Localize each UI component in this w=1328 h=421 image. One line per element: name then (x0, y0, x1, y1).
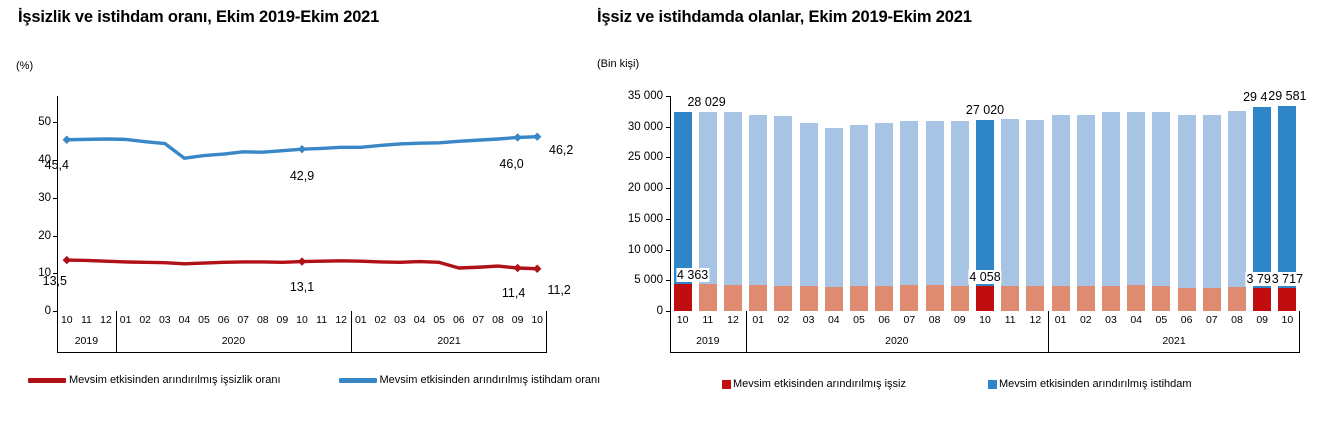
y-axis-tick-label: 0 (29, 305, 51, 317)
x-axis-month: 01 (355, 314, 367, 326)
x-axis-month: 03 (803, 314, 815, 326)
x-axis-month: 09 (512, 314, 524, 326)
x-axis-month: 09 (954, 314, 966, 326)
legend-item[interactable]: Mevsim etkisinden arındırılmış istihdam … (339, 374, 601, 386)
bar-segment-unemployed (1203, 288, 1221, 311)
bar-segment-employed (850, 125, 868, 286)
bar-value-label: 29 581 (1267, 89, 1307, 103)
line-data-point-label: 46,0 (499, 157, 523, 171)
x-axis-month: 07 (237, 314, 249, 326)
bar-column[interactable] (1001, 119, 1019, 311)
bar-segment-employed (1026, 120, 1044, 286)
x-axis-month: 07 (904, 314, 916, 326)
bar-column[interactable] (900, 121, 918, 311)
x-axis-month: 10 (296, 314, 308, 326)
x-axis-year: 2020 (222, 335, 245, 347)
line-data-point-marker (298, 257, 306, 265)
y-axis-tick-label: 50 (29, 116, 51, 128)
x-axis-month: 12 (1030, 314, 1042, 326)
x-axis-month: 03 (159, 314, 171, 326)
bar-column[interactable] (1178, 115, 1196, 311)
y-axis-tick-mark (666, 219, 671, 220)
bar-chart-x-axis: 1011120102030405060708091011120102030405… (670, 311, 1300, 353)
x-axis-month: 10 (531, 314, 543, 326)
x-axis-group-separator (1048, 311, 1049, 353)
bar-segment-employed (749, 115, 767, 285)
legend-square-swatch (988, 380, 997, 389)
legend-line-swatch (28, 378, 66, 383)
bar-column[interactable] (724, 112, 742, 311)
x-axis-month: 10 (1282, 314, 1294, 326)
x-axis-month: 01 (120, 314, 132, 326)
x-axis-month: 03 (1105, 314, 1117, 326)
bar-segment-unemployed (699, 284, 717, 311)
bar-column[interactable] (875, 122, 893, 311)
bar-segment-employed (1077, 115, 1095, 286)
x-axis-month: 10 (677, 314, 689, 326)
line-chart-x-axis: 1011120102030405060708091011120102030405… (57, 311, 547, 353)
line-chart-panel: İşsizlik ve istihdam oranı, Ekim 2019-Ek… (0, 0, 592, 421)
x-axis-month: 04 (828, 314, 840, 326)
x-axis-month: 06 (878, 314, 890, 326)
bar-column[interactable] (850, 125, 868, 311)
bar-chart-legend: Mevsim etkisinden arındırılmış işsizMevs… (722, 378, 1192, 390)
x-axis-month: 09 (1256, 314, 1268, 326)
x-axis-month: 06 (453, 314, 465, 326)
x-axis-month: 08 (257, 314, 269, 326)
x-axis-month: 02 (375, 314, 387, 326)
y-axis-tick-mark (666, 127, 671, 128)
bar-segment-employed (800, 123, 818, 286)
x-axis-border (57, 352, 547, 353)
bar-column[interactable] (1152, 112, 1170, 311)
bar-segment-employed (926, 121, 944, 286)
bar-chart-plot-area: 05 00010 00015 00020 00025 00030 00035 0… (670, 96, 1300, 311)
bar-segment-employed (1001, 119, 1019, 286)
bar-segment-employed (1152, 112, 1170, 286)
x-axis-month: 03 (394, 314, 406, 326)
legend-label: Mevsim etkisinden arındırılmış istihdam … (380, 374, 601, 386)
bar-segment-employed (951, 121, 969, 286)
bar-column[interactable] (825, 128, 843, 311)
bar-segment-unemployed (926, 285, 944, 311)
x-axis-month: 11 (81, 314, 92, 326)
y-axis-tick-mark (666, 96, 671, 97)
x-axis-year: 2020 (885, 335, 908, 347)
bar-column[interactable] (749, 115, 767, 311)
y-axis-tick-mark (666, 250, 671, 251)
bar-column[interactable] (951, 121, 969, 311)
bar-value-label: 28 029 (686, 95, 726, 109)
y-axis-tick-mark (666, 188, 671, 189)
bar-segment-unemployed (674, 284, 692, 311)
bar-segment-unemployed (976, 286, 994, 311)
x-axis-month: 01 (1055, 314, 1067, 326)
bar-segment-unemployed (1102, 286, 1120, 311)
bar-column[interactable] (1127, 112, 1145, 311)
y-axis-tick-label: 5 000 (619, 274, 663, 286)
bar-segment-unemployed (1127, 285, 1145, 311)
x-axis-month: 12 (727, 314, 739, 326)
x-axis-month: 04 (1130, 314, 1142, 326)
line-data-point-label: 13,1 (290, 280, 314, 294)
bar-column[interactable] (774, 116, 792, 311)
x-axis-group-separator (746, 311, 747, 353)
bar-segment-employed (1203, 115, 1221, 288)
bar-segment-unemployed (749, 285, 767, 311)
bar-segment-employed (1228, 111, 1246, 287)
bar-value-label: 4 363 (676, 268, 709, 282)
y-axis-tick-label: 30 000 (619, 121, 663, 133)
bar-segment-unemployed (1178, 288, 1196, 311)
bar-column[interactable] (1228, 111, 1246, 311)
x-axis-month: 02 (139, 314, 151, 326)
line-data-point-label: 42,9 (290, 169, 314, 183)
bar-segment-employed (724, 112, 742, 285)
bar-segment-employed (674, 112, 692, 284)
x-axis-year: 2021 (1162, 335, 1185, 347)
bar-segment-employed (1102, 112, 1120, 286)
x-axis-group-separator (351, 311, 352, 353)
bar-segment-employed (976, 120, 994, 286)
bar-segment-unemployed (1278, 288, 1296, 311)
x-axis-month: 05 (198, 314, 210, 326)
x-axis-month: 11 (702, 314, 713, 326)
line-data-point-label: 11,2 (547, 283, 570, 297)
y-axis-tick-label: 20 000 (619, 182, 663, 194)
legend-label: Mevsim etkisinden arındırılmış işsiz (733, 378, 906, 390)
x-axis-border (1299, 311, 1300, 353)
bar-value-label: 3 717 (1271, 272, 1304, 286)
legend-label: Mevsim etkisinden arındırılmış işsizlik … (69, 374, 281, 386)
x-axis-border (670, 352, 1300, 353)
x-axis-month: 12 (100, 314, 112, 326)
bar-segment-employed (774, 116, 792, 285)
x-axis-month: 09 (277, 314, 289, 326)
line-chart-y-unit: (%) (16, 60, 33, 72)
x-axis-month: 04 (179, 314, 191, 326)
bar-segment-unemployed (724, 285, 742, 311)
x-axis-month: 12 (335, 314, 347, 326)
legend-item[interactable]: Mevsim etkisinden arındırılmış işsiz (722, 378, 906, 390)
legend-line-swatch (339, 378, 377, 383)
x-axis-month: 05 (433, 314, 445, 326)
bar-segment-employed (699, 112, 717, 284)
x-axis-month: 06 (1181, 314, 1193, 326)
bar-segment-employed (1178, 115, 1196, 289)
bar-segment-unemployed (1052, 286, 1070, 311)
line-data-point-marker (533, 133, 541, 141)
line-data-point-marker (63, 256, 71, 264)
bar-value-label: 4 058 (968, 270, 1001, 284)
legend-item[interactable]: Mevsim etkisinden arındırılmış istihdam (988, 378, 1192, 390)
bar-segment-unemployed (1152, 286, 1170, 311)
x-axis-year: 2019 (696, 335, 719, 347)
bar-segment-unemployed (850, 286, 868, 311)
bar-segment-unemployed (800, 286, 818, 311)
y-axis-tick-label: 25 000 (619, 151, 663, 163)
x-axis-month: 10 (979, 314, 991, 326)
bar-segment-employed (1052, 115, 1070, 286)
bar-column[interactable] (1102, 112, 1120, 311)
x-axis-month: 08 (492, 314, 504, 326)
x-axis-border (670, 311, 671, 353)
y-axis-tick-label: 20 (29, 230, 51, 242)
bar-chart-panel: İşsiz ve istihdamda olanlar, Ekim 2019-E… (592, 0, 1328, 421)
x-axis-month: 08 (1231, 314, 1243, 326)
y-axis-tick-label: 35 000 (619, 90, 663, 102)
line-chart-title: İşsizlik ve istihdam oranı, Ekim 2019-Ek… (18, 8, 379, 27)
bar-segment-employed (825, 128, 843, 287)
line-data-point-marker (63, 136, 71, 144)
x-axis-border (546, 311, 547, 353)
bar-chart-y-unit: (Bin kişi) (597, 58, 639, 70)
bar-value-label: 27 020 (965, 103, 1005, 117)
bar-segment-employed (1127, 112, 1145, 285)
x-axis-month: 05 (853, 314, 865, 326)
x-axis-month: 08 (929, 314, 941, 326)
bar-segment-unemployed (1077, 286, 1095, 311)
dual-chart-page: İşsizlik ve istihdam oranı, Ekim 2019-Ek… (0, 0, 1328, 421)
y-axis-line (670, 96, 671, 311)
bar-column[interactable] (800, 123, 818, 311)
line-data-point-marker (533, 265, 541, 273)
line-data-point-label: 45,4 (45, 158, 69, 172)
bar-column[interactable] (1026, 120, 1044, 311)
x-axis-month: 11 (316, 314, 327, 326)
x-axis-month: 02 (778, 314, 790, 326)
bar-segment-unemployed (825, 287, 843, 311)
legend-item[interactable]: Mevsim etkisinden arındırılmış işsizlik … (28, 374, 281, 386)
x-axis-month: 07 (473, 314, 485, 326)
line-data-point-marker (298, 145, 306, 153)
x-axis-group-separator (116, 311, 117, 353)
x-axis-border (57, 311, 58, 353)
x-axis-month: 04 (414, 314, 426, 326)
y-axis-tick-label: 30 (29, 192, 51, 204)
x-axis-month: 02 (1080, 314, 1092, 326)
bar-chart-title: İşsiz ve istihdamda olanlar, Ekim 2019-E… (597, 8, 972, 27)
bar-segment-unemployed (1228, 287, 1246, 311)
x-axis-month: 05 (1156, 314, 1168, 326)
bar-column[interactable] (1077, 115, 1095, 311)
y-axis-tick-mark (666, 157, 671, 158)
bar-column[interactable] (926, 121, 944, 311)
bar-segment-employed (1278, 106, 1296, 288)
legend-label: Mevsim etkisinden arındırılmış istihdam (999, 378, 1192, 390)
bar-segment-employed (1253, 107, 1271, 288)
bar-column[interactable] (1203, 115, 1221, 311)
line-chart-plot-area: 01020304050 13,513,111,411,245,442,946,0… (57, 96, 547, 311)
bar-segment-unemployed (774, 286, 792, 311)
x-axis-month: 11 (1005, 314, 1016, 326)
y-axis-tick-label: 10 000 (619, 244, 663, 256)
bar-segment-unemployed (875, 286, 893, 311)
bar-segment-unemployed (1026, 286, 1044, 311)
x-axis-year: 2021 (437, 335, 460, 347)
bar-segment-employed (875, 123, 893, 286)
bar-segment-unemployed (1001, 286, 1019, 311)
y-axis-tick-mark (666, 280, 671, 281)
line-data-point-label: 13,5 (43, 274, 67, 288)
bar-segment-employed (900, 121, 918, 286)
y-axis-tick-label: 15 000 (619, 213, 663, 225)
line-chart-legend: Mevsim etkisinden arındırılmış işsizlik … (28, 374, 630, 386)
y-axis-tick-label: 0 (619, 305, 663, 317)
line-data-point-marker (513, 264, 521, 272)
x-axis-year: 2019 (75, 335, 98, 347)
line-data-point-marker (513, 133, 521, 141)
legend-square-swatch (722, 380, 731, 389)
bar-segment-unemployed (1253, 288, 1271, 311)
x-axis-month: 01 (752, 314, 764, 326)
bar-column[interactable] (1052, 115, 1070, 311)
bar-segment-unemployed (900, 285, 918, 311)
x-axis-month: 07 (1206, 314, 1218, 326)
bar-segment-unemployed (951, 286, 969, 311)
line-data-point-label: 11,4 (502, 286, 525, 300)
x-axis-month: 10 (61, 314, 73, 326)
line-data-point-label: 46,2 (549, 143, 573, 157)
x-axis-month: 06 (218, 314, 230, 326)
